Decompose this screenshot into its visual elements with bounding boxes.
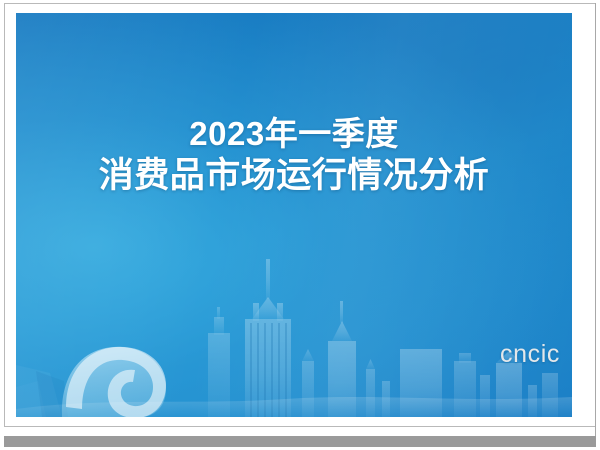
wave-spiral-icon — [16, 347, 572, 417]
screenshot-viewport: 2023年一季度 消费品市场运行情况分析 cncic — [0, 0, 600, 450]
city-skyline-icon — [208, 259, 558, 417]
slide-gradient-sheen — [16, 13, 572, 417]
slide-artwork — [16, 257, 572, 417]
slide-title-block: 2023年一季度 消费品市场运行情况分析 — [16, 116, 572, 194]
cncic-logo: cncic — [500, 340, 560, 369]
page-bottom-bar — [4, 436, 596, 447]
slide-title-line-2: 消费品市场运行情况分析 — [16, 157, 572, 195]
page-frame-right-edge — [595, 3, 596, 436]
presentation-slide: 2023年一季度 消费品市场运行情况分析 cncic — [16, 13, 572, 417]
corner-shard-icon — [16, 347, 136, 417]
slide-title-line-1: 2023年一季度 — [16, 116, 572, 152]
